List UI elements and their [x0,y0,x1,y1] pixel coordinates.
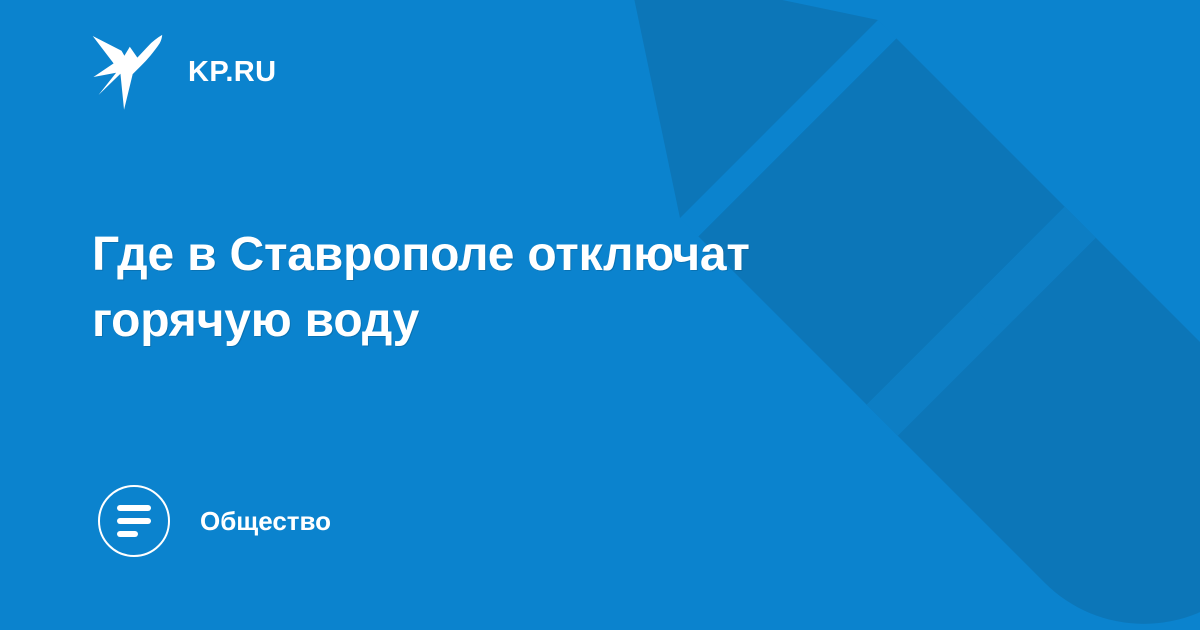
share-card: KP.RU Где в Ставрополе отключат горячую … [0,0,1200,630]
hamburger-line-2 [117,518,151,524]
page-title: Где в Ставрополе отключат горячую воду [92,222,922,354]
hamburger-lines-icon [98,485,170,557]
hamburger-line-1 [117,505,151,511]
swallow-bird-icon [92,33,164,111]
category-label: Общество [200,508,331,534]
brand-name: KP.RU [188,58,277,87]
hamburger-line-3 [117,531,138,537]
category-badge[interactable]: Общество [98,485,331,557]
site-logo[interactable]: KP.RU [92,32,277,112]
